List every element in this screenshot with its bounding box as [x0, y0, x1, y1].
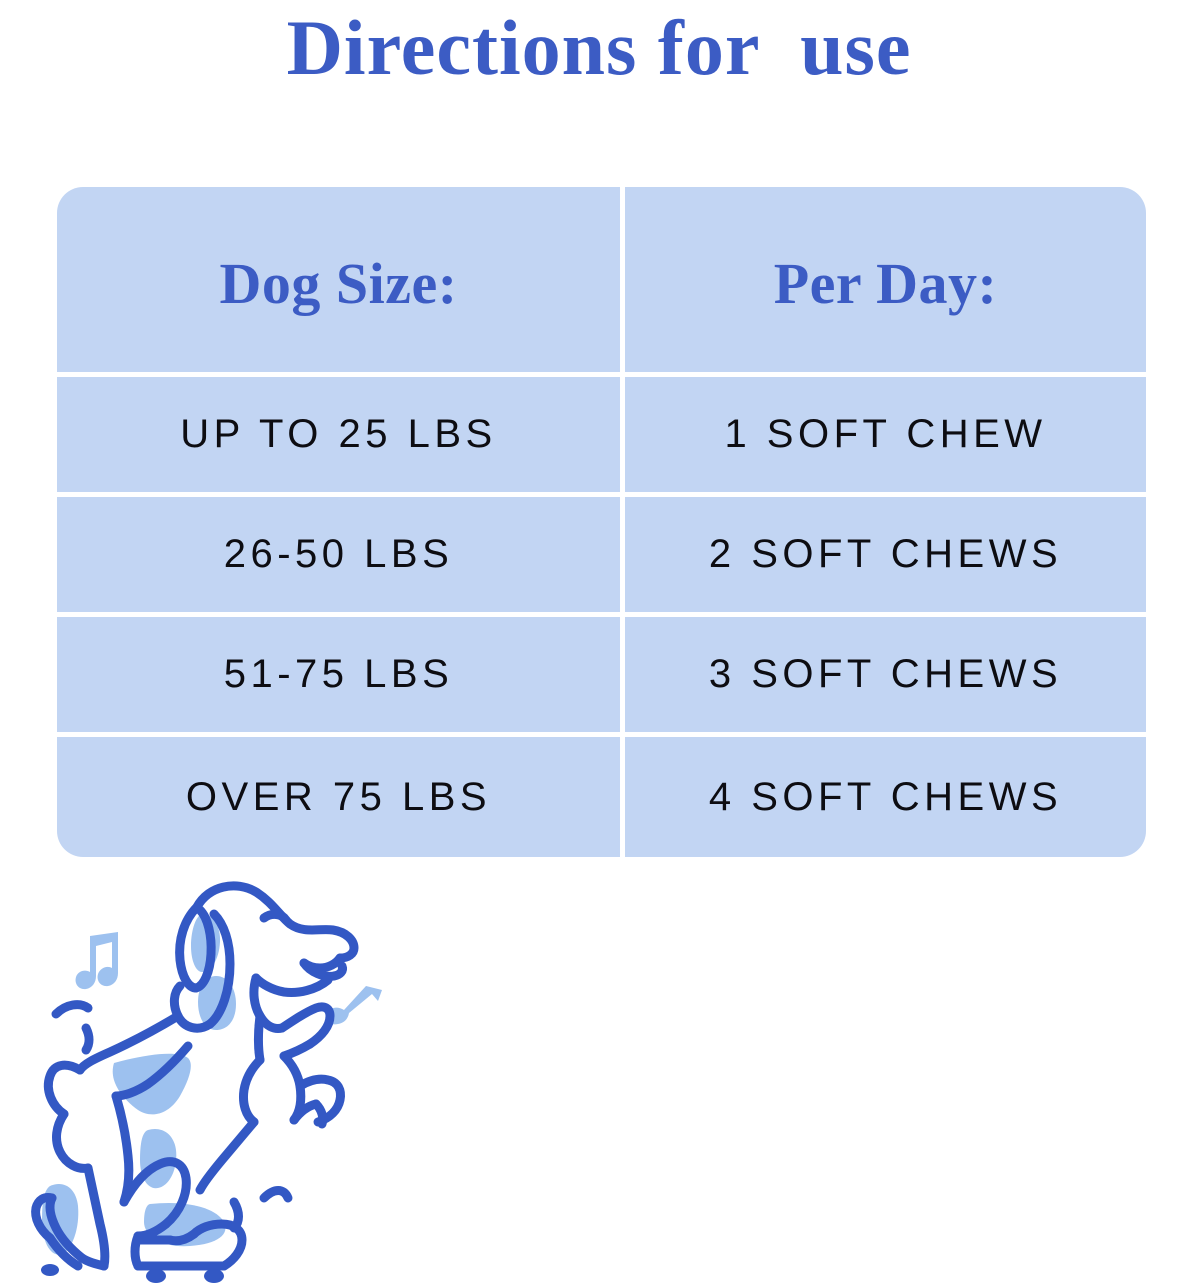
- table-header-per-day: Per Day:: [625, 187, 1146, 377]
- page-title: Directions for use: [0, 2, 1198, 94]
- table-row: UP TO 25 LBS: [57, 377, 625, 497]
- music-note-single: [326, 986, 382, 1024]
- directions-for-use-panel: Directions for use Dog Size: Per Day: UP…: [0, 0, 1198, 1283]
- table-row: 3 SOFT CHEWS: [625, 617, 1146, 737]
- music-note-double: [76, 932, 118, 989]
- table-row: 51-75 LBS: [57, 617, 625, 737]
- table-row: 2 SOFT CHEWS: [625, 497, 1146, 617]
- table-row: OVER 75 LBS: [57, 737, 625, 857]
- dog-on-roller-skates-illustration: [28, 868, 418, 1283]
- dog-illustration-svg: [28, 868, 418, 1283]
- table-row: 4 SOFT CHEWS: [625, 737, 1146, 857]
- table-row: 1 SOFT CHEW: [625, 377, 1146, 497]
- table-header-dog-size: Dog Size:: [57, 187, 625, 377]
- table-row: 26-50 LBS: [57, 497, 625, 617]
- dosage-table: Dog Size: Per Day: UP TO 25 LBS 1 SOFT C…: [57, 187, 1146, 857]
